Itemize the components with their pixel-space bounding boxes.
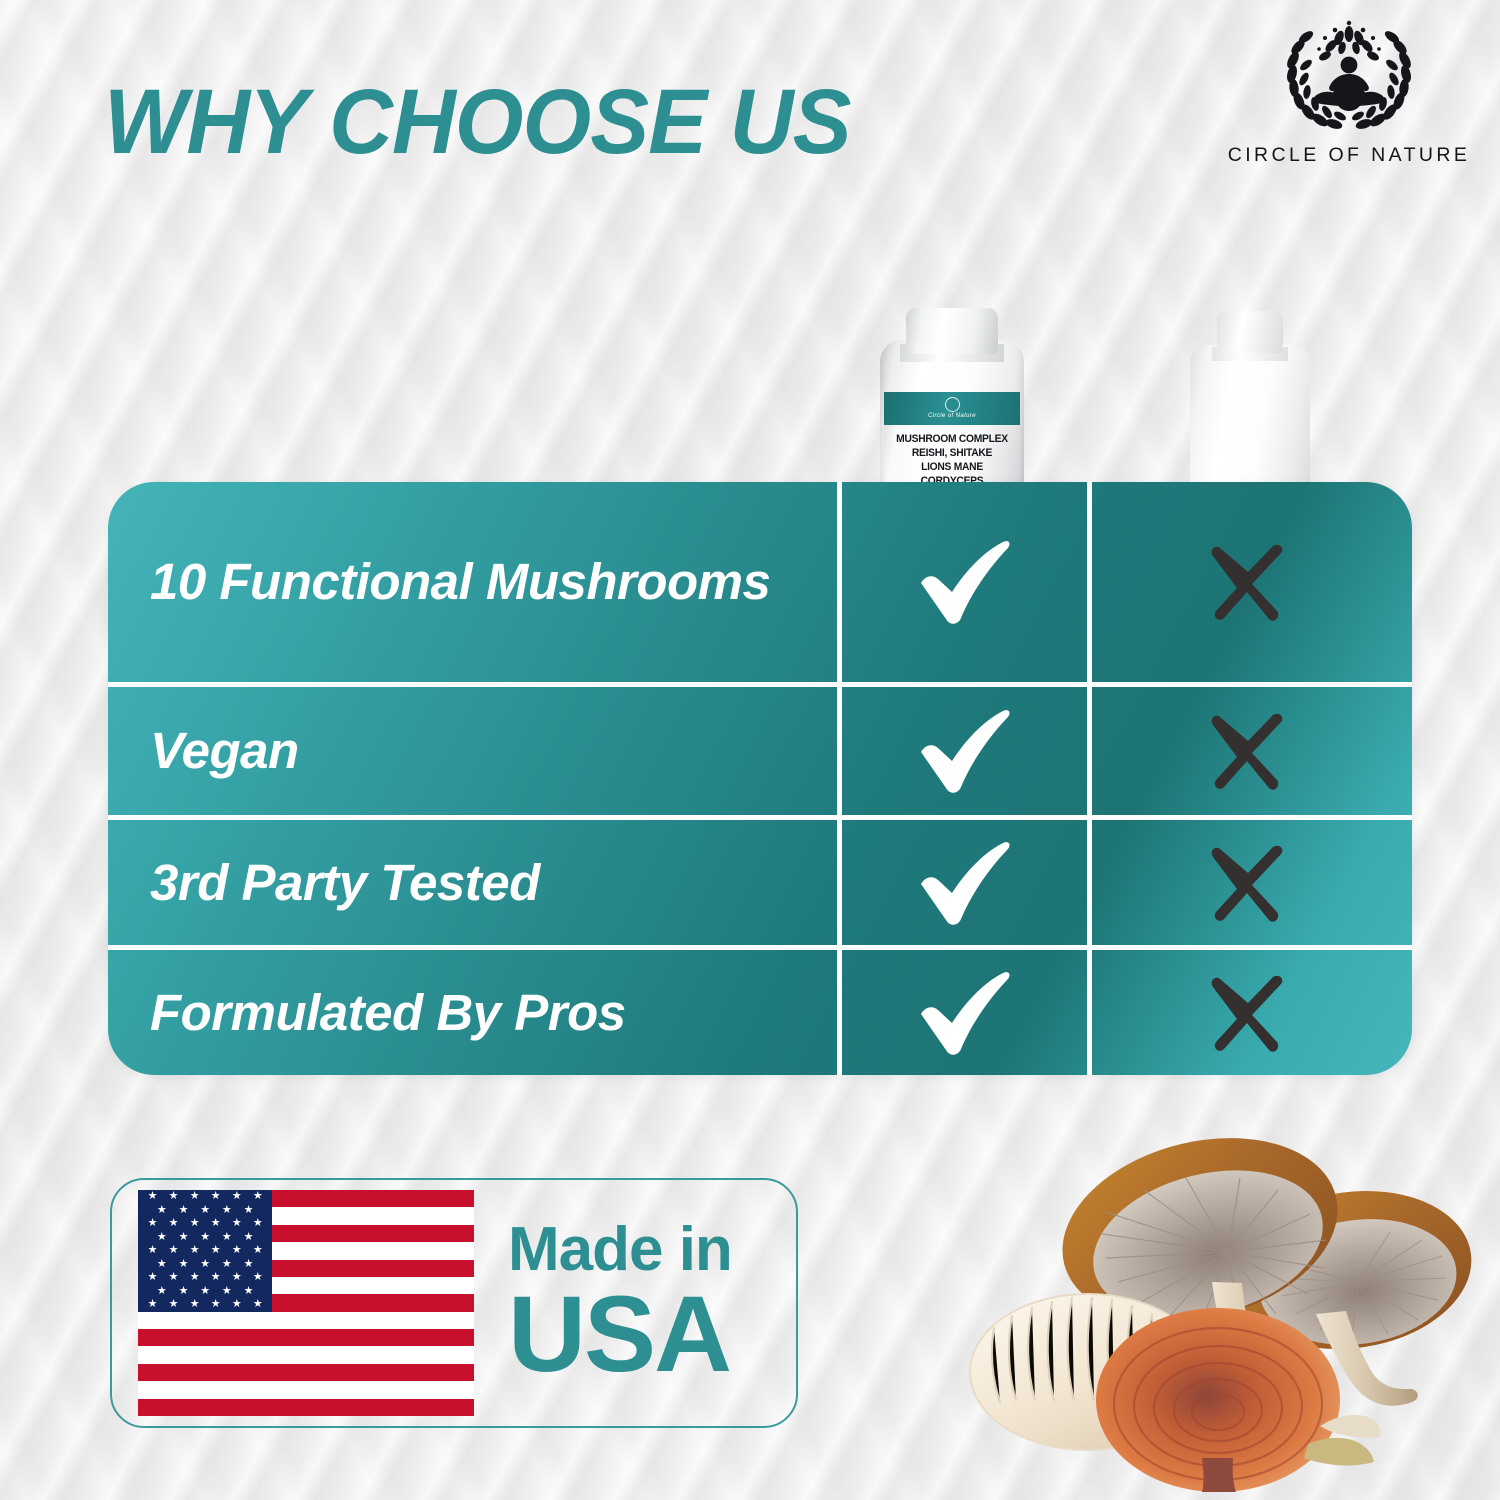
cell-ours-check — [837, 482, 1087, 682]
mushrooms-photo — [960, 1082, 1490, 1494]
check-icon — [913, 967, 1017, 1059]
bottle-cap — [906, 308, 998, 354]
bottle-name-line-3: LIONS MANE — [889, 460, 1014, 474]
product-bottle-competitor — [1190, 307, 1310, 505]
usa-label: USA — [508, 1282, 732, 1386]
comparison-table: 10 Functional Mushrooms Vegan — [108, 482, 1412, 1075]
check-icon — [913, 536, 1017, 628]
feature-label: Formulated By Pros — [108, 983, 837, 1043]
cell-theirs-cross — [1087, 820, 1407, 945]
feature-label: Vegan — [108, 721, 837, 781]
cell-theirs-cross — [1087, 482, 1407, 682]
cross-icon — [1210, 710, 1290, 792]
brand-logo-text: CIRCLE OF NATURE — [1228, 144, 1471, 167]
table-row: 10 Functional Mushrooms — [108, 482, 1412, 682]
bottle-brand: Circle of Nature — [928, 413, 976, 420]
meditating-figure-tree-laurel-wreath-icon — [1275, 14, 1423, 140]
flag-canton: ★★★★★★ ★★★★★ ★★★★★★ ★★★★★ ★★★★★★ ★★★★★ ★… — [138, 1190, 272, 1312]
table-row: Formulated By Pros — [108, 945, 1412, 1075]
mushroom-cluster-illustration — [960, 1082, 1490, 1494]
bottle-name-line-2: REISHI, SHITAKE — [889, 446, 1014, 460]
feature-label: 10 Functional Mushrooms — [108, 552, 837, 612]
infographic-page: WHY CHOOSE US — [0, 0, 1500, 1500]
table-row: 3rd Party Tested — [108, 815, 1412, 945]
check-icon — [913, 705, 1017, 797]
bottle-name-line-1: MUSHROOM COMPLEX — [889, 432, 1014, 446]
cross-icon — [1210, 842, 1290, 924]
bottle-label-header: Circle of Nature — [884, 392, 1020, 425]
brand-logo: CIRCLE OF NATURE — [1224, 14, 1474, 167]
made-in-usa-badge: ★★★★★★ ★★★★★ ★★★★★★ ★★★★★ ★★★★★★ ★★★★★ ★… — [110, 1178, 798, 1428]
page-title: WHY CHOOSE US — [104, 74, 851, 170]
feature-label: 3rd Party Tested — [108, 853, 837, 913]
check-icon — [913, 837, 1017, 929]
competitor-bottle-cap — [1217, 311, 1283, 353]
cell-theirs-cross — [1087, 687, 1407, 815]
us-flag-icon: ★★★★★★ ★★★★★ ★★★★★★ ★★★★★ ★★★★★★ ★★★★★ ★… — [138, 1190, 474, 1416]
cell-theirs-cross — [1087, 950, 1407, 1075]
competitor-bottle-body — [1190, 345, 1310, 505]
table-row: Vegan — [108, 682, 1412, 815]
bottle-logo-icon — [945, 397, 960, 412]
cross-icon — [1210, 541, 1290, 623]
cell-ours-check — [837, 950, 1087, 1075]
made-in-usa-text: Made in USA — [508, 1220, 732, 1385]
cross-icon — [1210, 972, 1290, 1054]
cell-ours-check — [837, 687, 1087, 815]
made-in-label: Made in — [508, 1220, 732, 1280]
bottle-product-name: MUSHROOM COMPLEX REISHI, SHITAKE LIONS M… — [889, 432, 1014, 488]
cell-ours-check — [837, 820, 1087, 945]
